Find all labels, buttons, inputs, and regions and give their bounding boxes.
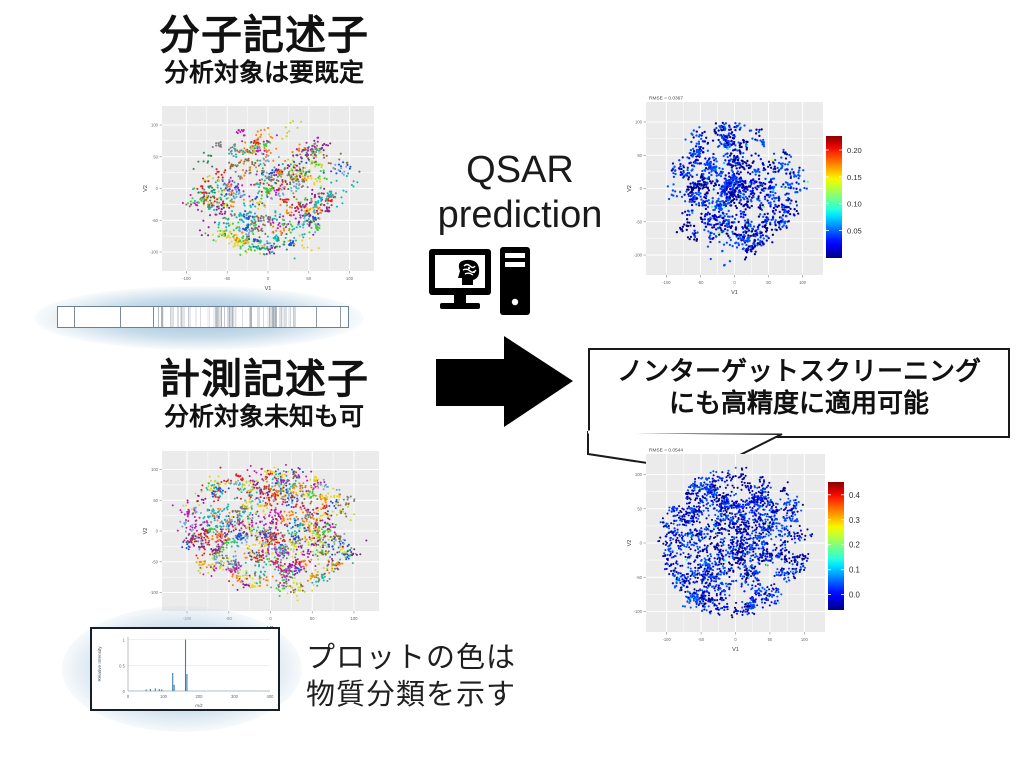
svg-text:RMSE = 0.0367: RMSE = 0.0367 [649, 96, 683, 102]
tsne-molecular-scatter-svg: -100-50050100100500-50-100V1V2 [130, 100, 380, 295]
mass-spectrum-inset: 00.510100200300400m/zRelative Intensity [90, 627, 280, 711]
svg-text:-100: -100 [634, 253, 643, 258]
svg-text:50: 50 [766, 280, 771, 285]
plot-color-caption: プロットの色は 物質分類を示す [306, 640, 516, 714]
svg-text:300: 300 [231, 694, 239, 699]
callout-bubble: ノンターゲットスクリーニング にも高精度に適用可能 [588, 348, 1010, 438]
svg-text:-100: -100 [182, 276, 191, 281]
svg-text:100: 100 [799, 280, 807, 285]
right-arrow [418, 336, 578, 428]
svg-text:-50: -50 [636, 219, 643, 224]
svg-text:V2: V2 [143, 185, 149, 192]
mass-spectrum-svg: 00.510100200300400m/zRelative Intensity [92, 629, 278, 709]
svg-text:0: 0 [733, 280, 736, 285]
svg-text:50: 50 [637, 153, 642, 158]
measured-descriptor-subtitle: 分析対象未知も可 [114, 404, 414, 432]
svg-text:-50: -50 [152, 559, 159, 564]
svg-text:100: 100 [151, 467, 159, 472]
svg-text:Relative Intensity: Relative Intensity [97, 646, 102, 682]
plot-bottom-right: -100-50050100100500-50-100V1V2RMSE = 0.0… [608, 440, 933, 660]
qsar-line-1: QSAR [420, 148, 620, 193]
svg-text:m/z: m/z [195, 703, 203, 708]
molecular-descriptor-heading: 分子記述子 分析対象は要既定 [114, 14, 414, 88]
svg-text:0: 0 [127, 694, 130, 699]
svg-text:-100: -100 [150, 590, 159, 595]
computer-ai-icon [428, 247, 538, 317]
molecular-fingerprint-barcode [57, 306, 349, 328]
measured-descriptor-heading: 計測記述子 分析対象未知も可 [114, 358, 414, 432]
svg-text:0: 0 [267, 276, 270, 281]
molecular-descriptor-subtitle: 分析対象は要既定 [114, 60, 414, 88]
svg-text:50: 50 [306, 276, 311, 281]
plot-top-left: -100-50050100100500-50-100V1V2 [130, 100, 380, 295]
svg-text:100: 100 [160, 694, 168, 699]
svg-text:V2: V2 [627, 185, 633, 192]
svg-text:-100: -100 [662, 280, 671, 285]
svg-text:V2: V2 [143, 528, 149, 535]
svg-text:100: 100 [346, 276, 354, 281]
svg-text:50: 50 [153, 498, 158, 503]
svg-text:-50: -50 [224, 276, 231, 281]
caption-line-1: プロットの色は [306, 640, 516, 677]
svg-text:100: 100 [635, 120, 643, 125]
plot-top-right: -100-50050100100500-50-100V1V2RMSE = 0.0… [608, 88, 928, 303]
svg-text:200: 200 [196, 694, 204, 699]
svg-text:400: 400 [267, 694, 275, 699]
svg-text:0: 0 [640, 186, 643, 191]
qsar-prediction-label: QSAR prediction [420, 148, 620, 238]
svg-text:0: 0 [269, 616, 272, 621]
svg-text:0: 0 [156, 186, 159, 191]
svg-text:50: 50 [310, 616, 315, 621]
svg-text:1: 1 [123, 638, 126, 643]
qsar-line-2: prediction [420, 193, 620, 238]
tsne-error-molecular-svg: -100-50050100100500-50-100V1V2RMSE = 0.0… [608, 88, 928, 303]
callout-line-2: にも高精度に適用可能 [588, 388, 1010, 420]
svg-text:0: 0 [123, 689, 126, 694]
svg-text:V1: V1 [731, 290, 738, 296]
molecular-descriptor-title: 分子記述子 [114, 14, 414, 57]
svg-text:-100: -100 [150, 250, 159, 255]
slide-canvas: 分子記述子 分析対象は要既定 -100-50050100100500-50-10… [0, 0, 1024, 771]
tsne-error-measured-svg: -100-50050100100500-50-100V1V2RMSE = 0.0… [608, 440, 933, 660]
svg-text:100: 100 [151, 123, 159, 128]
measured-descriptor-title: 計測記述子 [114, 358, 414, 401]
svg-text:0: 0 [156, 529, 159, 534]
svg-text:50: 50 [153, 154, 158, 159]
barcode-bars [58, 307, 349, 328]
svg-text:-50: -50 [152, 218, 159, 223]
svg-text:0.5: 0.5 [119, 663, 125, 668]
callout-line-1: ノンターゲットスクリーニング [588, 356, 1010, 388]
caption-line-2: 物質分類を示す [306, 677, 516, 714]
svg-text:100: 100 [350, 616, 358, 621]
svg-text:-50: -50 [697, 280, 704, 285]
